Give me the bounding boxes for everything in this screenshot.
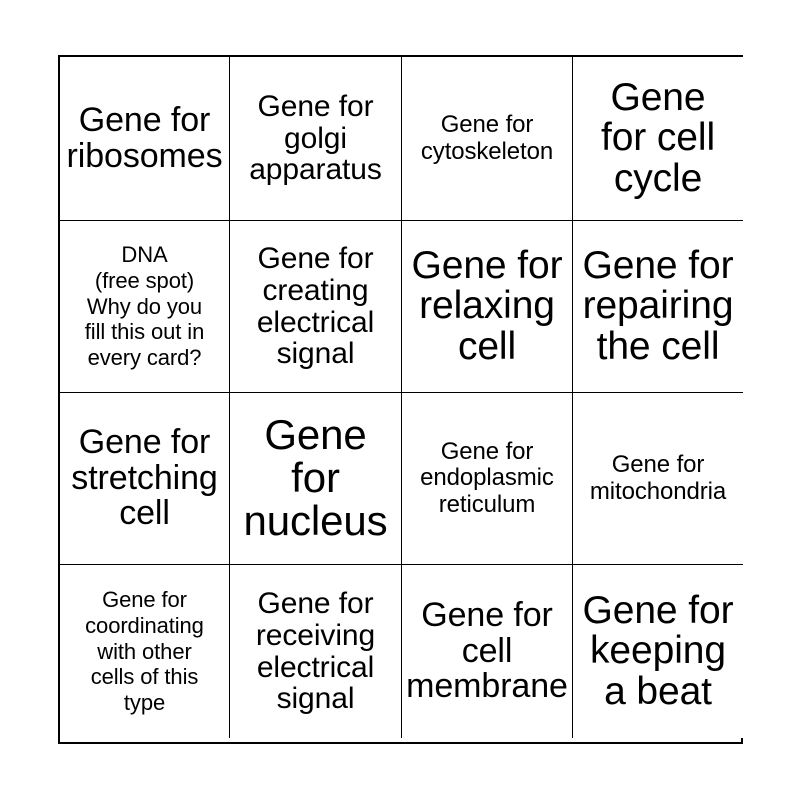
bingo-cell[interactable]: Gene for mitochondria (573, 393, 743, 565)
bingo-cell-label: Gene for mitochondria (576, 452, 740, 505)
bingo-cell-label: Gene for keeping a beat (576, 591, 740, 711)
bingo-cell[interactable]: Gene for relaxing cell (402, 221, 573, 393)
bingo-cell-label: Gene for coordinating with other cells o… (63, 587, 226, 717)
bingo-cell[interactable]: Gene for cell cycle (573, 57, 743, 221)
bingo-cell-label: Gene for receiving electrical signal (233, 588, 398, 715)
bingo-cell-label: Gene for ribosomes (63, 103, 226, 174)
bingo-cell[interactable]: Gene for receiving electrical signal (230, 565, 402, 738)
bingo-cell-label: Gene for cell cycle (576, 78, 740, 198)
bingo-card: Gene for ribosomesGene for golgi apparat… (58, 55, 743, 744)
bingo-cell-free-spot[interactable]: DNA (free spot) Why do you fill this out… (60, 221, 230, 393)
bingo-cell[interactable]: Gene for golgi apparatus (230, 57, 402, 221)
bingo-cell-label: Gene for cytoskeleton (405, 112, 569, 165)
bingo-cell[interactable]: Gene for stretching cell (60, 393, 230, 565)
bingo-cell-label: Gene for nucleus (233, 414, 398, 542)
bingo-cell-label: Gene for repairing the cell (576, 246, 740, 366)
bingo-cell[interactable]: Gene for cytoskeleton (402, 57, 573, 221)
bingo-cell[interactable]: Gene for creating electrical signal (230, 221, 402, 393)
bingo-cell-label: Gene for stretching cell (63, 425, 226, 532)
bingo-cell[interactable]: Gene for keeping a beat (573, 565, 743, 738)
bingo-cell-label: Gene for cell membrane (405, 598, 569, 705)
bingo-cell[interactable]: Gene for nucleus (230, 393, 402, 565)
bingo-cell-label: Gene for golgi apparatus (233, 91, 398, 186)
bingo-cell-label: Gene for endoplasmic reticulum (405, 439, 569, 518)
bingo-cell-label: Gene for creating electrical signal (233, 243, 398, 370)
bingo-cell-label: DNA (free spot) Why do you fill this out… (63, 242, 226, 372)
bingo-cell[interactable]: Gene for ribosomes (60, 57, 230, 221)
bingo-cell[interactable]: Gene for cell membrane (402, 565, 573, 738)
bingo-cell-label: Gene for relaxing cell (405, 246, 569, 366)
bingo-cell[interactable]: Gene for repairing the cell (573, 221, 743, 393)
bingo-cell[interactable]: Gene for coordinating with other cells o… (60, 565, 230, 738)
bingo-cell[interactable]: Gene for endoplasmic reticulum (402, 393, 573, 565)
